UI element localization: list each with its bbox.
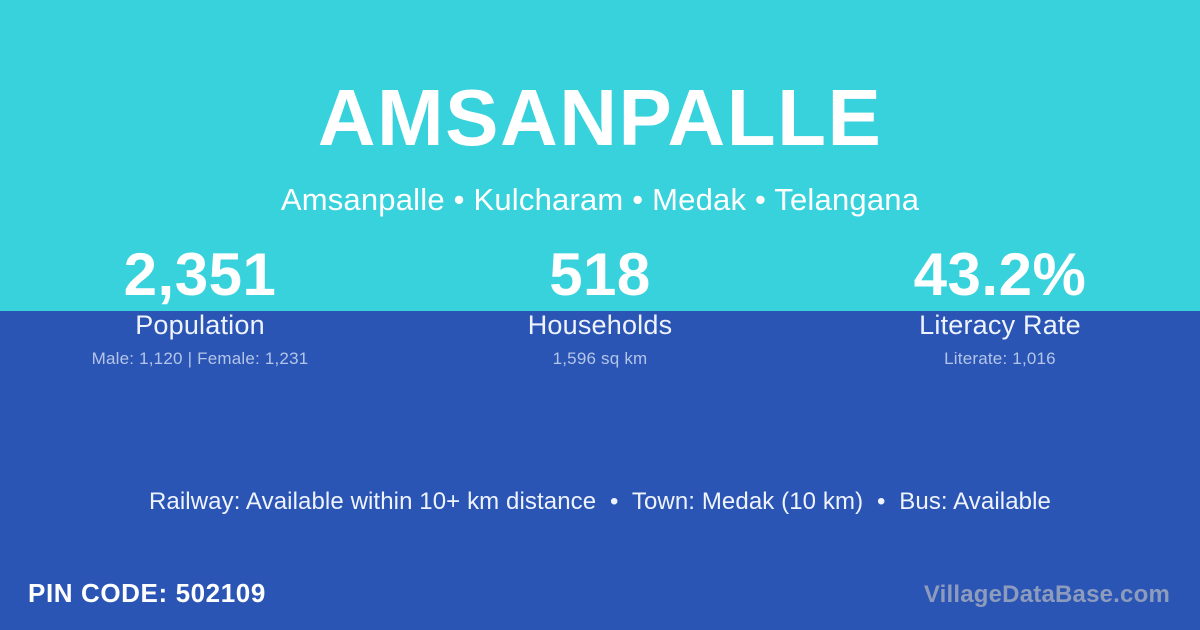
stat-value: 2,351 [0, 242, 400, 308]
stat-households: 518 Households 1,596 sq km [400, 242, 800, 370]
site-brand: VillageDataBase.com [924, 580, 1170, 610]
pin-code: PIN CODE: 502109 [28, 577, 266, 609]
stat-subtext: Male: 1,120 | Female: 1,231 [0, 348, 400, 370]
page-title: AMSANPALLE [0, 78, 1200, 158]
stat-value: 43.2% [800, 242, 1200, 308]
village-info-card: AMSANPALLE Amsanpalle • Kulcharam • Meda… [0, 0, 1200, 630]
stat-subtext: Literate: 1,016 [800, 348, 1200, 370]
infra-town: Town: Medak (10 km) [632, 488, 863, 515]
infra-bus: Bus: Available [899, 488, 1051, 515]
stat-value: 518 [400, 242, 800, 308]
breadcrumb: Amsanpalle • Kulcharam • Medak • Telanga… [0, 182, 1200, 218]
stat-label: Population [0, 308, 400, 342]
stat-literacy-rate: 43.2% Literacy Rate Literate: 1,016 [800, 242, 1200, 370]
infrastructure-line: Railway: Available within 10+ km distanc… [0, 487, 1200, 517]
stat-subtext: 1,596 sq km [400, 348, 800, 370]
stat-population: 2,351 Population Male: 1,120 | Female: 1… [0, 242, 400, 370]
stat-label: Literacy Rate [800, 308, 1200, 342]
stats-row: 2,351 Population Male: 1,120 | Female: 1… [0, 242, 1200, 370]
bullet-separator-icon: • [603, 488, 626, 515]
stat-label: Households [400, 308, 800, 342]
bullet-separator-icon: • [870, 488, 893, 515]
infra-railway: Railway: Available within 10+ km distanc… [149, 488, 596, 515]
